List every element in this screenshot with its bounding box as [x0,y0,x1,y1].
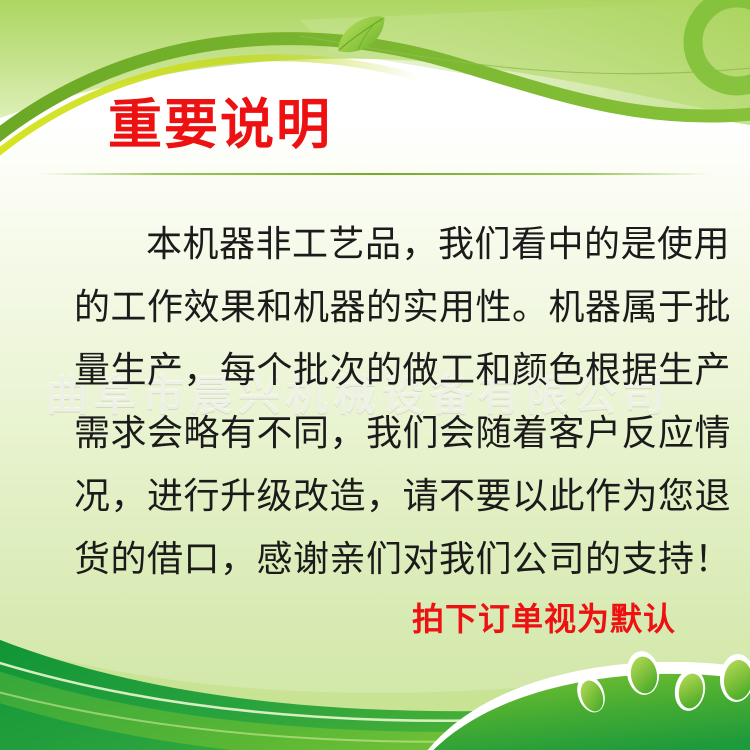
body-line: 需求会略有不同，我们会随着客户反应情 [74,401,680,464]
body-text: 本机器非工艺品，我们看中的是使用 的工作效果和机器的实用性。机器属于批 量生产，… [74,212,680,590]
body-line: 的工作效果和机器的实用性。机器属于批 [74,275,680,338]
header-divider [40,173,710,175]
page-title: 重要说明 [108,96,332,155]
promo-banner: 重要说明 曲阜市晨兴机械设备有限公司 本机器非工艺品，我们看中的是使用 的工作效… [0,0,750,750]
body-line: 货的借口，感谢亲们对我们公司的支持！ [74,527,680,590]
ring-icon [693,0,750,86]
leaf-icon [331,13,391,56]
body-line: 况，进行升级改造，请不要以此作为您退 [74,464,680,527]
body-line: 本机器非工艺品，我们看中的是使用 [74,212,680,275]
body-line: 量生产，每个批次的做工和颜色根据生产 [74,338,680,401]
petal-icon [572,649,750,716]
footer-note: 拍下订单视为默认 [0,594,676,640]
